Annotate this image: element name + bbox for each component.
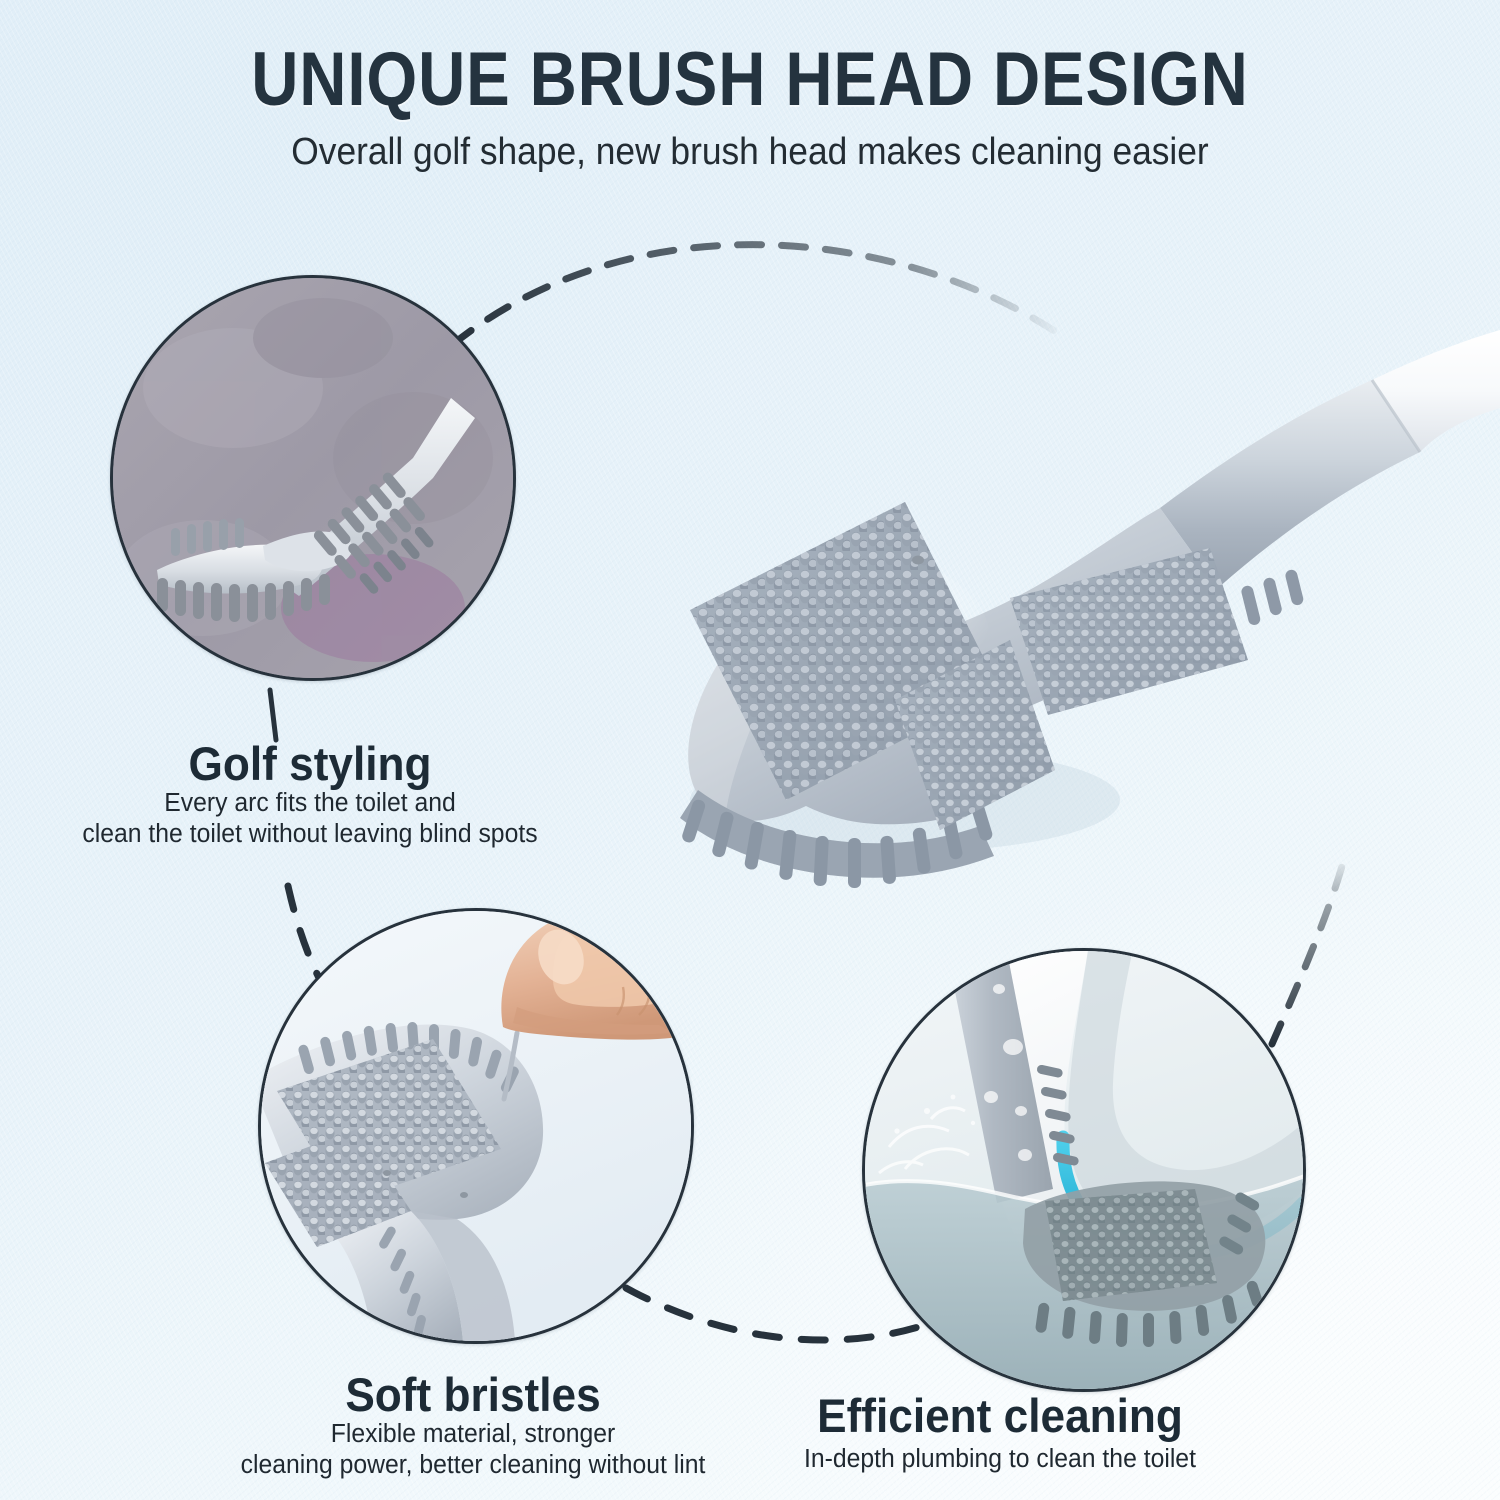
golf-styling-image xyxy=(113,278,513,678)
product-infographic: UNIQUE BRUSH HEAD DESIGN Overall golf sh… xyxy=(0,0,1500,1500)
soft-desc-line-2: cleaning power, better cleaning without … xyxy=(167,1450,778,1481)
golf-desc-line-2: clean the toilet without leaving blind s… xyxy=(9,819,610,850)
feature-title-soft-bristles: Soft bristles xyxy=(177,1367,769,1422)
feature-desc-efficient-cleaning: In-depth plumbing to clean the toilet xyxy=(709,1444,1291,1475)
inset-efficient-cleaning xyxy=(862,948,1306,1392)
connector-golf-to-hero xyxy=(452,245,1068,345)
leader-golf-label xyxy=(270,690,276,740)
feature-title-efficient-cleaning: Efficient cleaning xyxy=(718,1388,1282,1443)
feature-desc-soft-bristles: Flexible material, stronger cleaning pow… xyxy=(167,1419,778,1481)
inset-soft-bristles xyxy=(258,908,694,1344)
soft-desc-line-1: Flexible material, stronger xyxy=(167,1419,778,1450)
inset-golf-styling xyxy=(110,275,516,681)
efficient-desc-line-1: In-depth plumbing to clean the toilet xyxy=(709,1444,1291,1475)
feature-desc-golf-styling: Every arc fits the toilet and clean the … xyxy=(9,788,610,850)
feature-title-golf-styling: Golf styling xyxy=(19,736,602,791)
efficient-cleaning-image xyxy=(865,951,1303,1389)
golf-desc-line-1: Every arc fits the toilet and xyxy=(9,788,610,819)
soft-bristles-image xyxy=(261,911,691,1341)
